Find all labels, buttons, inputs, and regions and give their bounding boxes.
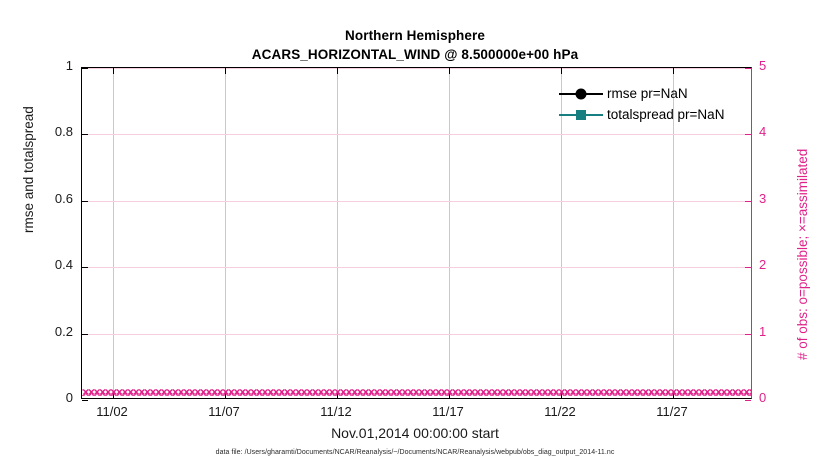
obs-assimilated-marker: ×: [357, 386, 364, 398]
horizontal-gridline: [82, 201, 751, 202]
obs-possible-marker: o: [175, 386, 182, 398]
y-axis-left-tick-label: 0.8: [55, 124, 73, 139]
obs-assimilated-marker: ×: [351, 386, 358, 398]
obs-possible-marker: o: [236, 386, 243, 398]
obs-assimilated-marker: ×: [625, 386, 632, 398]
legend: rmse pr=NaN totalspread pr=NaN: [555, 81, 728, 127]
obs-assimilated-marker: ×: [323, 386, 330, 398]
circle-marker-icon: [576, 88, 587, 99]
x-axis-tick-top: [113, 68, 114, 74]
y-axis-right-tick-label: 5: [759, 58, 766, 73]
obs-possible-marker: o: [701, 386, 708, 398]
obs-assimilated-marker: ×: [592, 386, 599, 398]
obs-possible-marker: o: [85, 386, 92, 398]
obs-possible-marker: o: [113, 386, 120, 398]
y-axis-right-tick-label: 0: [759, 390, 766, 405]
obs-possible-marker: o: [119, 386, 126, 398]
obs-assimilated-marker: ×: [620, 386, 627, 398]
obs-possible-marker: o: [528, 386, 535, 398]
obs-possible-marker: o: [281, 386, 288, 398]
obs-assimilated-marker: ×: [536, 386, 543, 398]
obs-assimilated-marker: ×: [569, 386, 576, 398]
title-line-2: ACARS_HORIZONTAL_WIND @ 8.500000e+00 hPa: [0, 45, 830, 64]
x-axis-tick: [673, 393, 674, 399]
y-axis-left-tick: [82, 68, 88, 69]
obs-assimilated-marker: ×: [435, 386, 442, 398]
obs-possible-marker: o: [533, 386, 540, 398]
x-axis-tick: [225, 393, 226, 399]
obs-assimilated-marker: ×: [463, 386, 470, 398]
obs-possible-marker: o: [712, 386, 719, 398]
obs-assimilated-marker: ×: [88, 386, 95, 398]
obs-assimilated-marker: ×: [340, 386, 347, 398]
x-axis-tick: [337, 393, 338, 399]
obs-assimilated-marker: ×: [721, 386, 728, 398]
obs-assimilated-marker: ×: [424, 386, 431, 398]
y-axis-left-tick: [82, 267, 88, 268]
y-axis-left-title: rmse and totalspread: [21, 33, 36, 233]
obs-possible-marker: o: [662, 386, 669, 398]
obs-assimilated-marker: ×: [217, 386, 224, 398]
obs-assimilated-marker: ×: [401, 386, 408, 398]
x-axis-tick: [561, 393, 562, 399]
y-axis-right-tick: [745, 334, 751, 335]
obs-assimilated-marker: ×: [743, 386, 750, 398]
obs-possible-marker: o: [500, 386, 507, 398]
legend-label-rmse: rmse pr=NaN: [607, 86, 688, 101]
obs-assimilated-marker: ×: [637, 386, 644, 398]
obs-assimilated-marker: ×: [211, 386, 218, 398]
y-axis-left-tick-label: 1: [66, 58, 73, 73]
obs-possible-marker: o: [180, 386, 187, 398]
obs-possible-marker: o: [326, 386, 333, 398]
obs-possible-marker: o: [147, 386, 154, 398]
obs-possible-marker: o: [276, 386, 283, 398]
x-axis-tick-label: 11/12: [320, 404, 352, 419]
obs-assimilated-marker: ×: [345, 386, 352, 398]
obs-assimilated-marker: ×: [693, 386, 700, 398]
obs-possible-marker: o: [164, 386, 171, 398]
obs-possible-marker: o: [432, 386, 439, 398]
obs-assimilated-marker: ×: [597, 386, 604, 398]
obs-possible-marker: o: [606, 386, 613, 398]
obs-assimilated-marker: ×: [385, 386, 392, 398]
obs-assimilated-marker: ×: [390, 386, 397, 398]
obs-assimilated-marker: ×: [121, 386, 128, 398]
obs-assimilated-marker: ×: [267, 386, 274, 398]
obs-possible-marker: o: [724, 386, 731, 398]
obs-possible-marker: o: [248, 386, 255, 398]
y-axis-right-tick: [745, 400, 751, 401]
obs-possible-marker: o: [472, 386, 479, 398]
x-axis-tick-label: 11/22: [544, 404, 576, 419]
obs-possible-marker: o: [404, 386, 411, 398]
obs-assimilated-marker: ×: [541, 386, 548, 398]
obs-possible-marker: o: [130, 386, 137, 398]
obs-possible-marker: o: [539, 386, 546, 398]
obs-possible-marker: o: [684, 386, 691, 398]
horizontal-gridline: [82, 267, 751, 268]
obs-possible-marker: o: [488, 386, 495, 398]
obs-assimilated-marker: ×: [508, 386, 515, 398]
obs-assimilated-marker: ×: [138, 386, 145, 398]
y-axis-right-tick: [745, 134, 751, 135]
x-axis-tick-label: 11/07: [208, 404, 240, 419]
obs-assimilated-marker: ×: [116, 386, 123, 398]
y-axis-right-tick: [745, 68, 751, 69]
obs-possible-marker: o: [393, 386, 400, 398]
obs-assimilated-marker: ×: [312, 386, 319, 398]
obs-assimilated-marker: ×: [631, 386, 638, 398]
obs-assimilated-marker: ×: [749, 386, 751, 398]
y-axis-left-tick-label: 0: [66, 390, 73, 405]
y-axis-right-tick-label: 3: [759, 191, 766, 206]
obs-possible-marker: o: [388, 386, 395, 398]
square-marker-icon: [576, 110, 586, 120]
obs-assimilated-marker: ×: [659, 386, 666, 398]
x-axis-tick: [449, 393, 450, 399]
y-axis-left-tick: [82, 400, 88, 401]
obs-possible-marker: o: [561, 386, 568, 398]
obs-assimilated-marker: ×: [278, 386, 285, 398]
obs-possible-marker: o: [584, 386, 591, 398]
obs-possible-marker: o: [192, 386, 199, 398]
x-axis-tick-label: 11/17: [432, 404, 464, 419]
obs-assimilated-marker: ×: [166, 386, 173, 398]
obs-assimilated-marker: ×: [704, 386, 711, 398]
obs-assimilated-marker: ×: [205, 386, 212, 398]
rmse-line-sample: [559, 87, 603, 101]
obs-possible-marker: o: [477, 386, 484, 398]
obs-possible-marker: o: [567, 386, 574, 398]
obs-possible-marker: o: [242, 386, 249, 398]
obs-assimilated-marker: ×: [513, 386, 520, 398]
obs-possible-marker: o: [516, 386, 523, 398]
obs-possible-marker: o: [707, 386, 714, 398]
obs-possible-marker: o: [494, 386, 501, 398]
obs-assimilated-marker: ×: [698, 386, 705, 398]
obs-assimilated-marker: ×: [161, 386, 168, 398]
obs-assimilated-marker: ×: [362, 386, 369, 398]
obs-possible-marker: o: [315, 386, 322, 398]
obs-possible-marker: o: [656, 386, 663, 398]
obs-assimilated-marker: ×: [373, 386, 380, 398]
obs-assimilated-marker: ×: [301, 386, 308, 398]
obs-possible-marker: o: [152, 386, 159, 398]
obs-possible-marker: o: [197, 386, 204, 398]
obs-assimilated-marker: ×: [737, 386, 744, 398]
y-axis-right-tick-label: 4: [759, 124, 766, 139]
page-title: Northern Hemisphere ACARS_HORIZONTAL_WIN…: [0, 26, 830, 64]
obs-possible-marker: o: [354, 386, 361, 398]
obs-assimilated-marker: ×: [653, 386, 660, 398]
obs-assimilated-marker: ×: [172, 386, 179, 398]
obs-assimilated-marker: ×: [261, 386, 268, 398]
obs-assimilated-marker: ×: [609, 386, 616, 398]
y-axis-left-tick: [82, 134, 88, 135]
obs-assimilated-marker: ×: [183, 386, 190, 398]
obs-assimilated-marker: ×: [474, 386, 481, 398]
obs-assimilated-marker: ×: [284, 386, 291, 398]
obs-possible-marker: o: [416, 386, 423, 398]
obs-assimilated-marker: ×: [491, 386, 498, 398]
horizontal-gridline: [82, 68, 751, 69]
obs-possible-marker: o: [612, 386, 619, 398]
obs-possible-marker: o: [410, 386, 417, 398]
obs-possible-marker: o: [544, 386, 551, 398]
obs-possible-marker: o: [348, 386, 355, 398]
obs-assimilated-marker: ×: [194, 386, 201, 398]
y-axis-left-tick: [82, 334, 88, 335]
y-axis-left-tick-label: 0.2: [55, 324, 73, 339]
obs-assimilated-marker: ×: [676, 386, 683, 398]
obs-possible-marker: o: [169, 386, 176, 398]
obs-assimilated-marker: ×: [329, 386, 336, 398]
obs-assimilated-marker: ×: [379, 386, 386, 398]
obs-possible-marker: o: [186, 386, 193, 398]
obs-possible-marker: o: [600, 386, 607, 398]
obs-assimilated-marker: ×: [133, 386, 140, 398]
x-axis-title: Nov.01,2014 00:00:00 start: [0, 425, 830, 441]
y-axis-left-tick: [82, 201, 88, 202]
obs-assimilated-marker: ×: [233, 386, 240, 398]
obs-assimilated-marker: ×: [452, 386, 459, 398]
obs-possible-marker: o: [287, 386, 294, 398]
obs-assimilated-marker: ×: [149, 386, 156, 398]
obs-possible-marker: o: [264, 386, 271, 398]
obs-possible-marker: o: [696, 386, 703, 398]
obs-assimilated-marker: ×: [732, 386, 739, 398]
obs-possible-marker: o: [740, 386, 747, 398]
obs-possible-marker: o: [225, 386, 232, 398]
obs-possible-marker: o: [505, 386, 512, 398]
obs-assimilated-marker: ×: [295, 386, 302, 398]
plot-area: o×o×o×o×o×o×o×o×o×o×o×o×o×o×o×o×o×o×o×o×…: [81, 67, 752, 399]
obs-assimilated-marker: ×: [530, 386, 537, 398]
obs-assimilated-marker: ×: [519, 386, 526, 398]
obs-possible-marker: o: [253, 386, 260, 398]
obs-assimilated-marker: ×: [502, 386, 509, 398]
obs-assimilated-marker: ×: [429, 386, 436, 398]
obs-possible-marker: o: [82, 386, 86, 398]
obs-assimilated-marker: ×: [469, 386, 476, 398]
obs-assimilated-marker: ×: [648, 386, 655, 398]
obs-possible-marker: o: [640, 386, 647, 398]
obs-possible-marker: o: [483, 386, 490, 398]
obs-assimilated-marker: ×: [457, 386, 464, 398]
observation-marker-row: o×o×o×o×o×o×o×o×o×o×o×o×o×o×o×o×o×o×o×o×…: [82, 384, 751, 399]
horizontal-gridline: [82, 134, 751, 135]
obs-possible-marker: o: [460, 386, 467, 398]
obs-possible-marker: o: [589, 386, 596, 398]
obs-possible-marker: o: [572, 386, 579, 398]
legend-item-totalspread: totalspread pr=NaN: [559, 104, 724, 125]
obs-possible-marker: o: [136, 386, 143, 398]
obs-possible-marker: o: [455, 386, 462, 398]
obs-possible-marker: o: [690, 386, 697, 398]
obs-possible-marker: o: [550, 386, 557, 398]
obs-possible-marker: o: [645, 386, 652, 398]
obs-possible-marker: o: [365, 386, 372, 398]
obs-assimilated-marker: ×: [413, 386, 420, 398]
horizontal-gridline: [82, 334, 751, 335]
obs-assimilated-marker: ×: [726, 386, 733, 398]
obs-possible-marker: o: [203, 386, 210, 398]
obs-possible-marker: o: [96, 386, 103, 398]
y-axis-right-tick: [745, 201, 751, 202]
vertical-gridline: [337, 68, 338, 398]
obs-possible-marker: o: [360, 386, 367, 398]
obs-possible-marker: o: [466, 386, 473, 398]
obs-possible-marker: o: [578, 386, 585, 398]
obs-assimilated-marker: ×: [687, 386, 694, 398]
obs-possible-marker: o: [231, 386, 238, 398]
obs-assimilated-marker: ×: [82, 386, 89, 398]
obs-possible-marker: o: [511, 386, 518, 398]
obs-possible-marker: o: [673, 386, 680, 398]
obs-possible-marker: o: [343, 386, 350, 398]
x-axis-tick-top: [337, 68, 338, 74]
x-axis-tick-label: 11/02: [96, 404, 128, 419]
obs-assimilated-marker: ×: [665, 386, 672, 398]
obs-assimilated-marker: ×: [525, 386, 532, 398]
obs-possible-marker: o: [651, 386, 658, 398]
obs-assimilated-marker: ×: [614, 386, 621, 398]
obs-assimilated-marker: ×: [306, 386, 313, 398]
x-axis-tick-top: [225, 68, 226, 74]
vertical-gridline: [113, 68, 114, 398]
obs-assimilated-marker: ×: [317, 386, 324, 398]
obs-assimilated-marker: ×: [642, 386, 649, 398]
obs-assimilated-marker: ×: [99, 386, 106, 398]
obs-possible-marker: o: [595, 386, 602, 398]
obs-assimilated-marker: ×: [93, 386, 100, 398]
obs-possible-marker: o: [399, 386, 406, 398]
obs-possible-marker: o: [718, 386, 725, 398]
obs-assimilated-marker: ×: [177, 386, 184, 398]
y-axis-right-tick: [745, 267, 751, 268]
obs-possible-marker: o: [304, 386, 311, 398]
obs-assimilated-marker: ×: [603, 386, 610, 398]
obs-possible-marker: o: [158, 386, 165, 398]
obs-assimilated-marker: ×: [480, 386, 487, 398]
obs-assimilated-marker: ×: [441, 386, 448, 398]
obs-possible-marker: o: [438, 386, 445, 398]
x-axis-tick: [113, 393, 114, 399]
x-axis-tick-label: 11/27: [656, 404, 688, 419]
obs-possible-marker: o: [382, 386, 389, 398]
obs-possible-marker: o: [259, 386, 266, 398]
obs-possible-marker: o: [735, 386, 742, 398]
x-axis-tick-top: [449, 68, 450, 74]
totalspread-line-sample: [559, 108, 603, 122]
obs-possible-marker: o: [421, 386, 428, 398]
vertical-gridline: [449, 68, 450, 398]
obs-possible-marker: o: [337, 386, 344, 398]
title-line-1: Northern Hemisphere: [0, 26, 830, 45]
x-axis-tick-top: [561, 68, 562, 74]
obs-assimilated-marker: ×: [289, 386, 296, 398]
obs-assimilated-marker: ×: [155, 386, 162, 398]
obs-assimilated-marker: ×: [581, 386, 588, 398]
obs-assimilated-marker: ×: [250, 386, 257, 398]
obs-possible-marker: o: [628, 386, 635, 398]
obs-possible-marker: o: [91, 386, 98, 398]
obs-possible-marker: o: [124, 386, 131, 398]
obs-possible-marker: o: [617, 386, 624, 398]
obs-possible-marker: o: [214, 386, 221, 398]
obs-possible-marker: o: [102, 386, 109, 398]
obs-possible-marker: o: [270, 386, 277, 398]
obs-possible-marker: o: [746, 386, 751, 398]
legend-item-rmse: rmse pr=NaN: [559, 83, 724, 104]
legend-label-totalspread: totalspread pr=NaN: [607, 107, 724, 122]
data-file-note: data file: /Users/gharamti/Documents/NCA…: [0, 449, 830, 456]
obs-assimilated-marker: ×: [144, 386, 151, 398]
obs-assimilated-marker: ×: [368, 386, 375, 398]
obs-possible-marker: o: [292, 386, 299, 398]
obs-possible-marker: o: [634, 386, 641, 398]
obs-assimilated-marker: ×: [418, 386, 425, 398]
y-axis-left-tick-label: 0.4: [55, 257, 73, 272]
y-axis-right-title: # of obs: o=possible; ×=assimilated: [795, 40, 810, 360]
obs-possible-marker: o: [522, 386, 529, 398]
obs-assimilated-marker: ×: [189, 386, 196, 398]
obs-assimilated-marker: ×: [709, 386, 716, 398]
obs-assimilated-marker: ×: [715, 386, 722, 398]
obs-assimilated-marker: ×: [497, 386, 504, 398]
obs-possible-marker: o: [623, 386, 630, 398]
vertical-gridline: [225, 68, 226, 398]
obs-assimilated-marker: ×: [407, 386, 414, 398]
obs-assimilated-marker: ×: [200, 386, 207, 398]
obs-assimilated-marker: ×: [127, 386, 134, 398]
obs-assimilated-marker: ×: [553, 386, 560, 398]
obs-possible-marker: o: [298, 386, 305, 398]
obs-assimilated-marker: ×: [564, 386, 571, 398]
obs-possible-marker: o: [208, 386, 215, 398]
y-axis-right-tick-label: 1: [759, 324, 766, 339]
obs-possible-marker: o: [449, 386, 456, 398]
obs-possible-marker: o: [320, 386, 327, 398]
obs-assimilated-marker: ×: [681, 386, 688, 398]
obs-assimilated-marker: ×: [105, 386, 112, 398]
obs-assimilated-marker: ×: [256, 386, 263, 398]
obs-possible-marker: o: [371, 386, 378, 398]
obs-assimilated-marker: ×: [239, 386, 246, 398]
obs-possible-marker: o: [141, 386, 148, 398]
obs-assimilated-marker: ×: [485, 386, 492, 398]
obs-possible-marker: o: [729, 386, 736, 398]
y-axis-left-tick-label: 0.6: [55, 191, 73, 206]
y-axis-right-tick-label: 2: [759, 257, 766, 272]
obs-assimilated-marker: ×: [228, 386, 235, 398]
obs-assimilated-marker: ×: [575, 386, 582, 398]
obs-possible-marker: o: [376, 386, 383, 398]
obs-possible-marker: o: [309, 386, 316, 398]
obs-assimilated-marker: ×: [273, 386, 280, 398]
obs-assimilated-marker: ×: [245, 386, 252, 398]
obs-possible-marker: o: [679, 386, 686, 398]
obs-assimilated-marker: ×: [396, 386, 403, 398]
obs-assimilated-marker: ×: [586, 386, 593, 398]
obs-possible-marker: o: [427, 386, 434, 398]
obs-assimilated-marker: ×: [547, 386, 554, 398]
x-axis-tick-top: [673, 68, 674, 74]
